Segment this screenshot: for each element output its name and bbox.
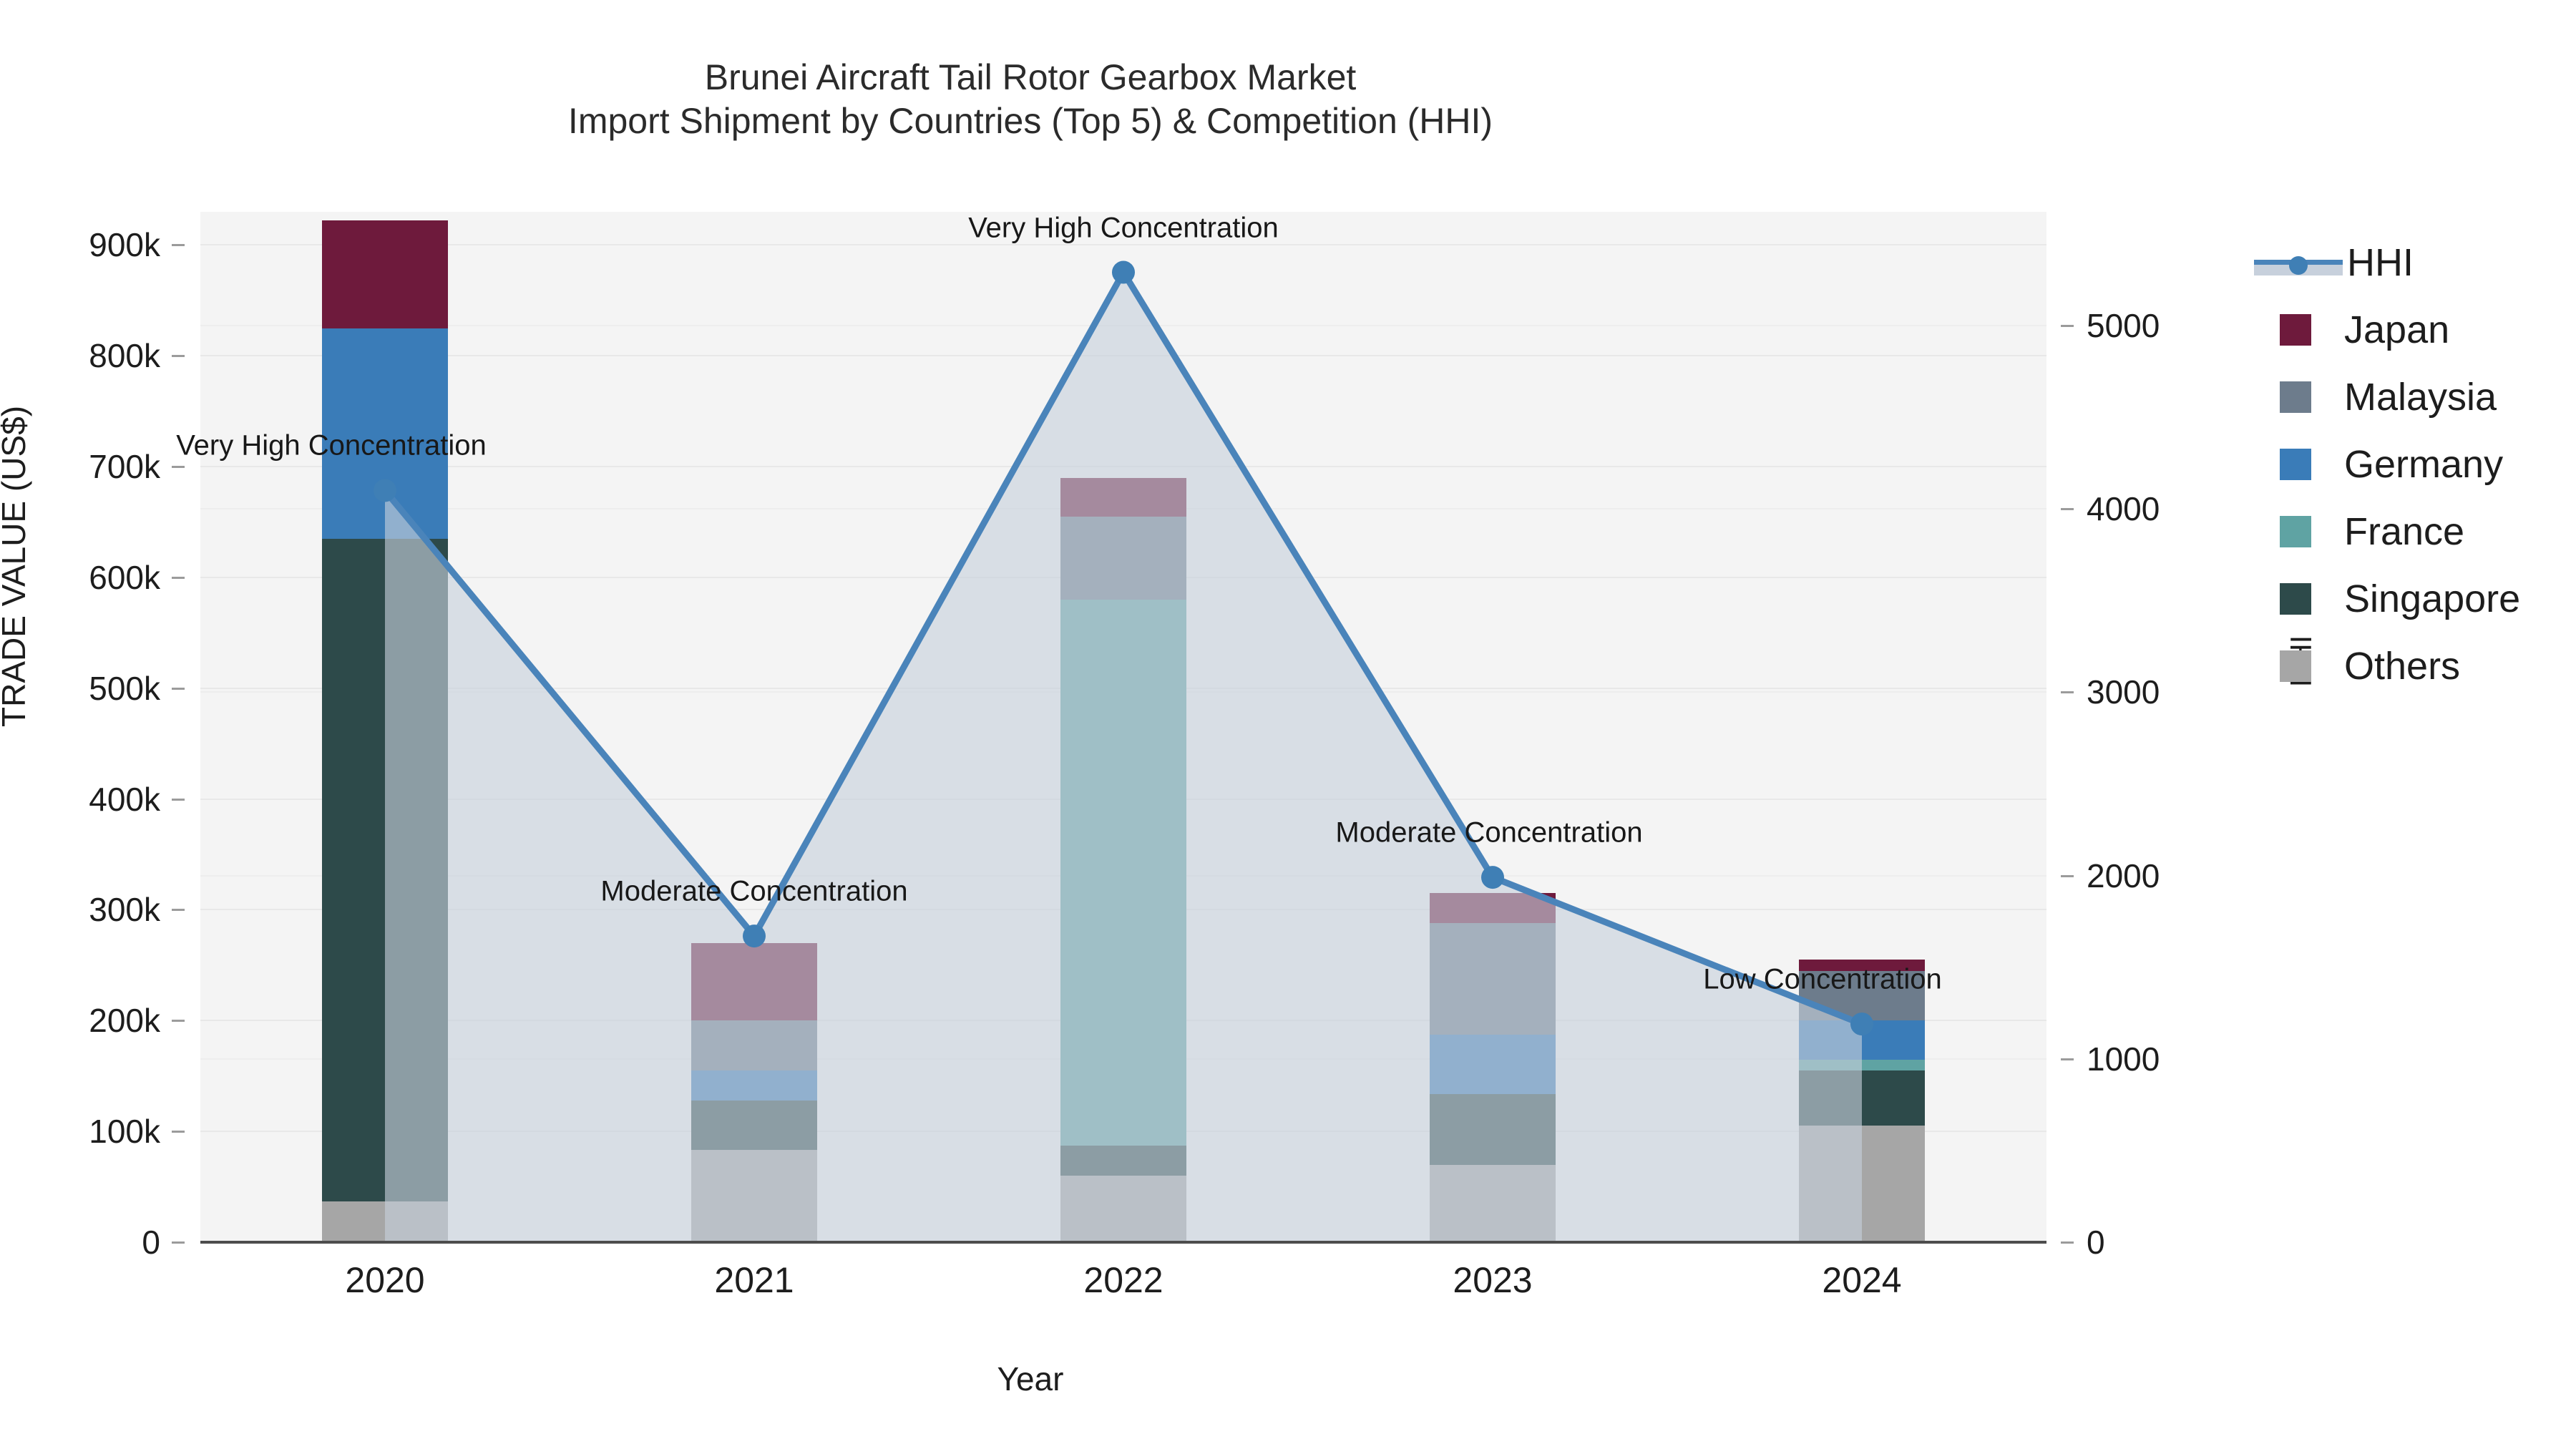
y-tick-left-700k: 700k bbox=[89, 447, 160, 486]
legend-item-singapore[interactable]: Singapore bbox=[2254, 565, 2569, 633]
x-axis-line bbox=[200, 1241, 2046, 1244]
legend-dot-icon bbox=[2289, 256, 2308, 275]
tick-mark bbox=[2061, 508, 2074, 510]
y-axis-right-ticks: 010002000300040005000 bbox=[2061, 212, 2247, 1242]
hhi-series bbox=[200, 212, 2046, 1242]
x-tick-2020: 2020 bbox=[345, 1259, 424, 1301]
chart-title-line-1: Brunei Aircraft Tail Rotor Gearbox Marke… bbox=[0, 56, 2061, 99]
annotation-2021: Moderate Concentration bbox=[600, 876, 907, 908]
tick-mark bbox=[2061, 325, 2074, 327]
x-tick-2021: 2021 bbox=[714, 1259, 794, 1301]
legend-label-hhi: HHI bbox=[2347, 240, 2414, 285]
tick-mark bbox=[2061, 875, 2074, 877]
y-tick-left-500k: 500k bbox=[89, 669, 160, 708]
tick-mark bbox=[172, 688, 185, 690]
y-tick-right-0: 0 bbox=[2087, 1223, 2105, 1262]
y-axis-left-ticks: 0100k200k300k400k500k600k700k800k900k bbox=[0, 212, 185, 1242]
annotation-2023: Moderate Concentration bbox=[1335, 817, 1642, 849]
legend-label-germany: Germany bbox=[2344, 442, 2503, 487]
y-tick-left-300k: 300k bbox=[89, 890, 160, 929]
tick-mark bbox=[172, 244, 185, 246]
y-tick-left-800k: 800k bbox=[89, 336, 160, 375]
legend-item-hhi[interactable]: HHI bbox=[2254, 229, 2569, 296]
tick-mark bbox=[2061, 691, 2074, 693]
x-axis-label: Year bbox=[0, 1360, 2061, 1398]
tick-mark bbox=[172, 799, 185, 801]
hhi-marker-2024[interactable] bbox=[1850, 1013, 1873, 1035]
legend-item-france[interactable]: France bbox=[2254, 498, 2569, 565]
chart-title: Brunei Aircraft Tail Rotor Gearbox Marke… bbox=[0, 56, 2061, 143]
legend-swatch-france bbox=[2280, 516, 2311, 547]
legend-label-france: France bbox=[2344, 509, 2464, 554]
legend-item-malaysia[interactable]: Malaysia bbox=[2254, 364, 2569, 431]
tick-mark bbox=[172, 577, 185, 579]
legend-item-japan[interactable]: Japan bbox=[2254, 296, 2569, 364]
y-tick-right-1000: 1000 bbox=[2087, 1040, 2160, 1078]
x-tick-2023: 2023 bbox=[1453, 1259, 1532, 1301]
tick-mark bbox=[172, 909, 185, 911]
x-tick-2022: 2022 bbox=[1083, 1259, 1163, 1301]
hhi-marker-2021[interactable] bbox=[743, 924, 766, 947]
y-tick-right-2000: 2000 bbox=[2087, 857, 2160, 895]
annotation-2024: Low Concentration bbox=[1703, 964, 1942, 996]
chart-canvas: Brunei Aircraft Tail Rotor Gearbox Marke… bbox=[0, 0, 2576, 1449]
legend-label-malaysia: Malaysia bbox=[2344, 375, 2497, 419]
y-tick-left-600k: 600k bbox=[89, 558, 160, 597]
annotation-2022: Very High Concentration bbox=[968, 212, 1279, 244]
tick-mark bbox=[172, 1241, 185, 1244]
y-tick-right-5000: 5000 bbox=[2087, 306, 2160, 345]
legend-swatch-singapore bbox=[2280, 583, 2311, 615]
y-axis-left-label: TRADE VALUE (US$) bbox=[0, 406, 33, 727]
tick-mark bbox=[2061, 1058, 2074, 1060]
legend: HHIJapanMalaysiaGermanyFranceSingaporeOt… bbox=[2254, 229, 2569, 700]
tick-mark bbox=[172, 466, 185, 468]
x-tick-2024: 2024 bbox=[1822, 1259, 1901, 1301]
chart-title-line-2: Import Shipment by Countries (Top 5) & C… bbox=[0, 99, 2061, 143]
legend-item-others[interactable]: Others bbox=[2254, 633, 2569, 700]
legend-swatch-others bbox=[2280, 650, 2311, 682]
legend-line-marker-icon bbox=[2254, 247, 2343, 278]
legend-label-others: Others bbox=[2344, 644, 2460, 688]
legend-swatch-malaysia bbox=[2280, 381, 2311, 413]
tick-mark bbox=[172, 355, 185, 357]
y-tick-left-0: 0 bbox=[142, 1223, 160, 1262]
annotation-2020: Very High Concentration bbox=[176, 430, 487, 462]
y-tick-left-100k: 100k bbox=[89, 1112, 160, 1151]
legend-swatch-germany bbox=[2280, 449, 2311, 480]
y-tick-left-200k: 200k bbox=[89, 1001, 160, 1040]
tick-mark bbox=[172, 1020, 185, 1022]
tick-mark bbox=[172, 1131, 185, 1133]
y-tick-left-400k: 400k bbox=[89, 780, 160, 819]
legend-swatch-japan bbox=[2280, 314, 2311, 346]
legend-label-singapore: Singapore bbox=[2344, 577, 2520, 621]
hhi-marker-2020[interactable] bbox=[374, 479, 396, 502]
legend-item-germany[interactable]: Germany bbox=[2254, 431, 2569, 498]
tick-mark bbox=[2061, 1241, 2074, 1244]
hhi-marker-2023[interactable] bbox=[1481, 866, 1504, 889]
legend-label-japan: Japan bbox=[2344, 308, 2449, 352]
hhi-marker-2022[interactable] bbox=[1112, 261, 1135, 284]
y-tick-left-900k: 900k bbox=[89, 225, 160, 264]
y-tick-right-3000: 3000 bbox=[2087, 673, 2160, 711]
y-tick-right-4000: 4000 bbox=[2087, 489, 2160, 528]
